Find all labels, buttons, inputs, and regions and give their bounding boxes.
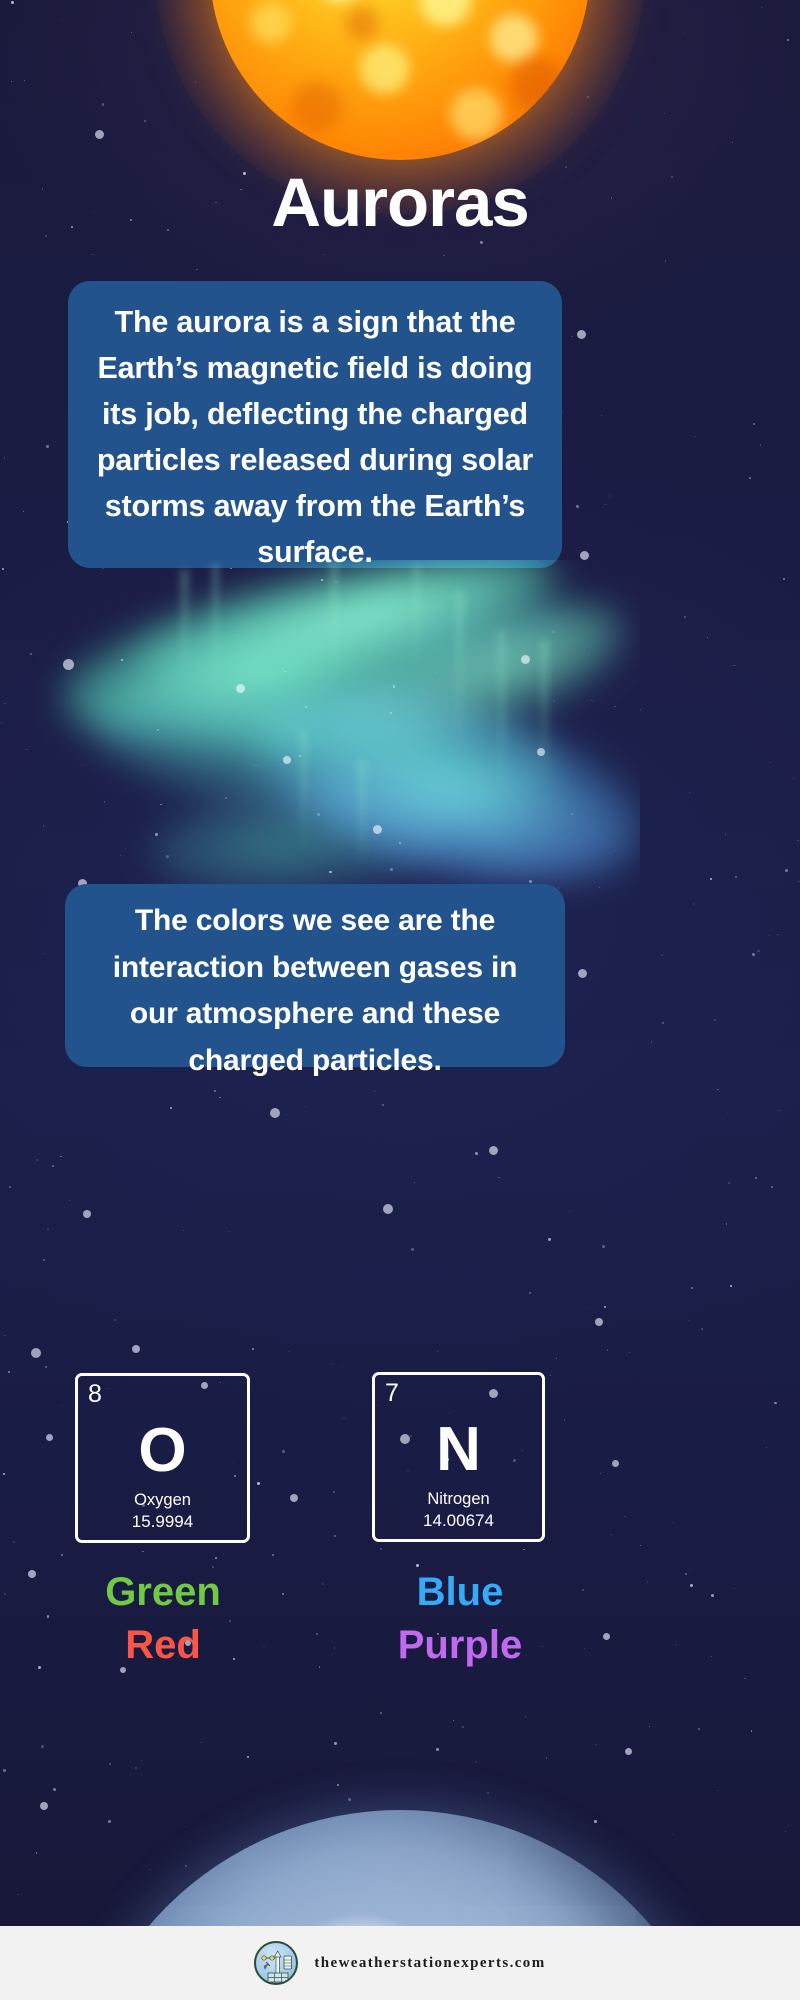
- element-tile-oxygen: 8 O Oxygen 15.9994: [75, 1373, 250, 1543]
- infographic-canvas: Auroras The aurora is a sign that the Ea…: [0, 0, 800, 2000]
- site-url: theweatherstationexperts.com: [314, 1955, 545, 1972]
- aurora-ray: [180, 570, 189, 690]
- aurora-ray: [498, 630, 505, 810]
- fact-card-magnetic-field: The aurora is a sign that the Earth’s ma…: [68, 281, 562, 568]
- sun-illustration: [210, 0, 590, 160]
- aurora-ray: [540, 640, 549, 790]
- aurora-ray: [212, 564, 219, 714]
- color-label-green: Green: [48, 1572, 278, 1612]
- element-tile-nitrogen: 7 N Nitrogen 14.00674: [372, 1372, 545, 1542]
- fact-card-colors: The colors we see are the interaction be…: [65, 884, 565, 1067]
- aurora-illustration: [0, 560, 640, 920]
- page-title: Auroras: [0, 168, 800, 237]
- weather-station-logo-icon: [254, 1941, 298, 1985]
- atomic-mass: 14.00674: [375, 1511, 542, 1531]
- color-label-blue: Blue: [345, 1572, 575, 1612]
- aurora-ray: [455, 590, 464, 750]
- element-symbol: N: [375, 1419, 542, 1481]
- element-symbol: O: [78, 1420, 247, 1482]
- atomic-number: 7: [385, 1378, 399, 1408]
- fact-card-text: The colors we see are the interaction be…: [113, 904, 518, 1077]
- element-name: Oxygen: [78, 1491, 247, 1510]
- footer-bar: theweatherstationexperts.com: [0, 1926, 800, 2000]
- fact-card-text: The aurora is a sign that the Earth’s ma…: [97, 305, 533, 569]
- aurora-ray: [330, 560, 338, 690]
- atomic-mass: 15.9994: [78, 1512, 247, 1532]
- color-label-red: Red: [48, 1625, 278, 1665]
- aurora-ray: [358, 760, 366, 870]
- atomic-number: 8: [88, 1379, 102, 1409]
- color-label-purple: Purple: [345, 1625, 575, 1665]
- sun-disc: [210, 0, 590, 160]
- aurora-ray: [300, 730, 307, 850]
- aurora-ray: [414, 566, 420, 676]
- element-name: Nitrogen: [375, 1490, 542, 1509]
